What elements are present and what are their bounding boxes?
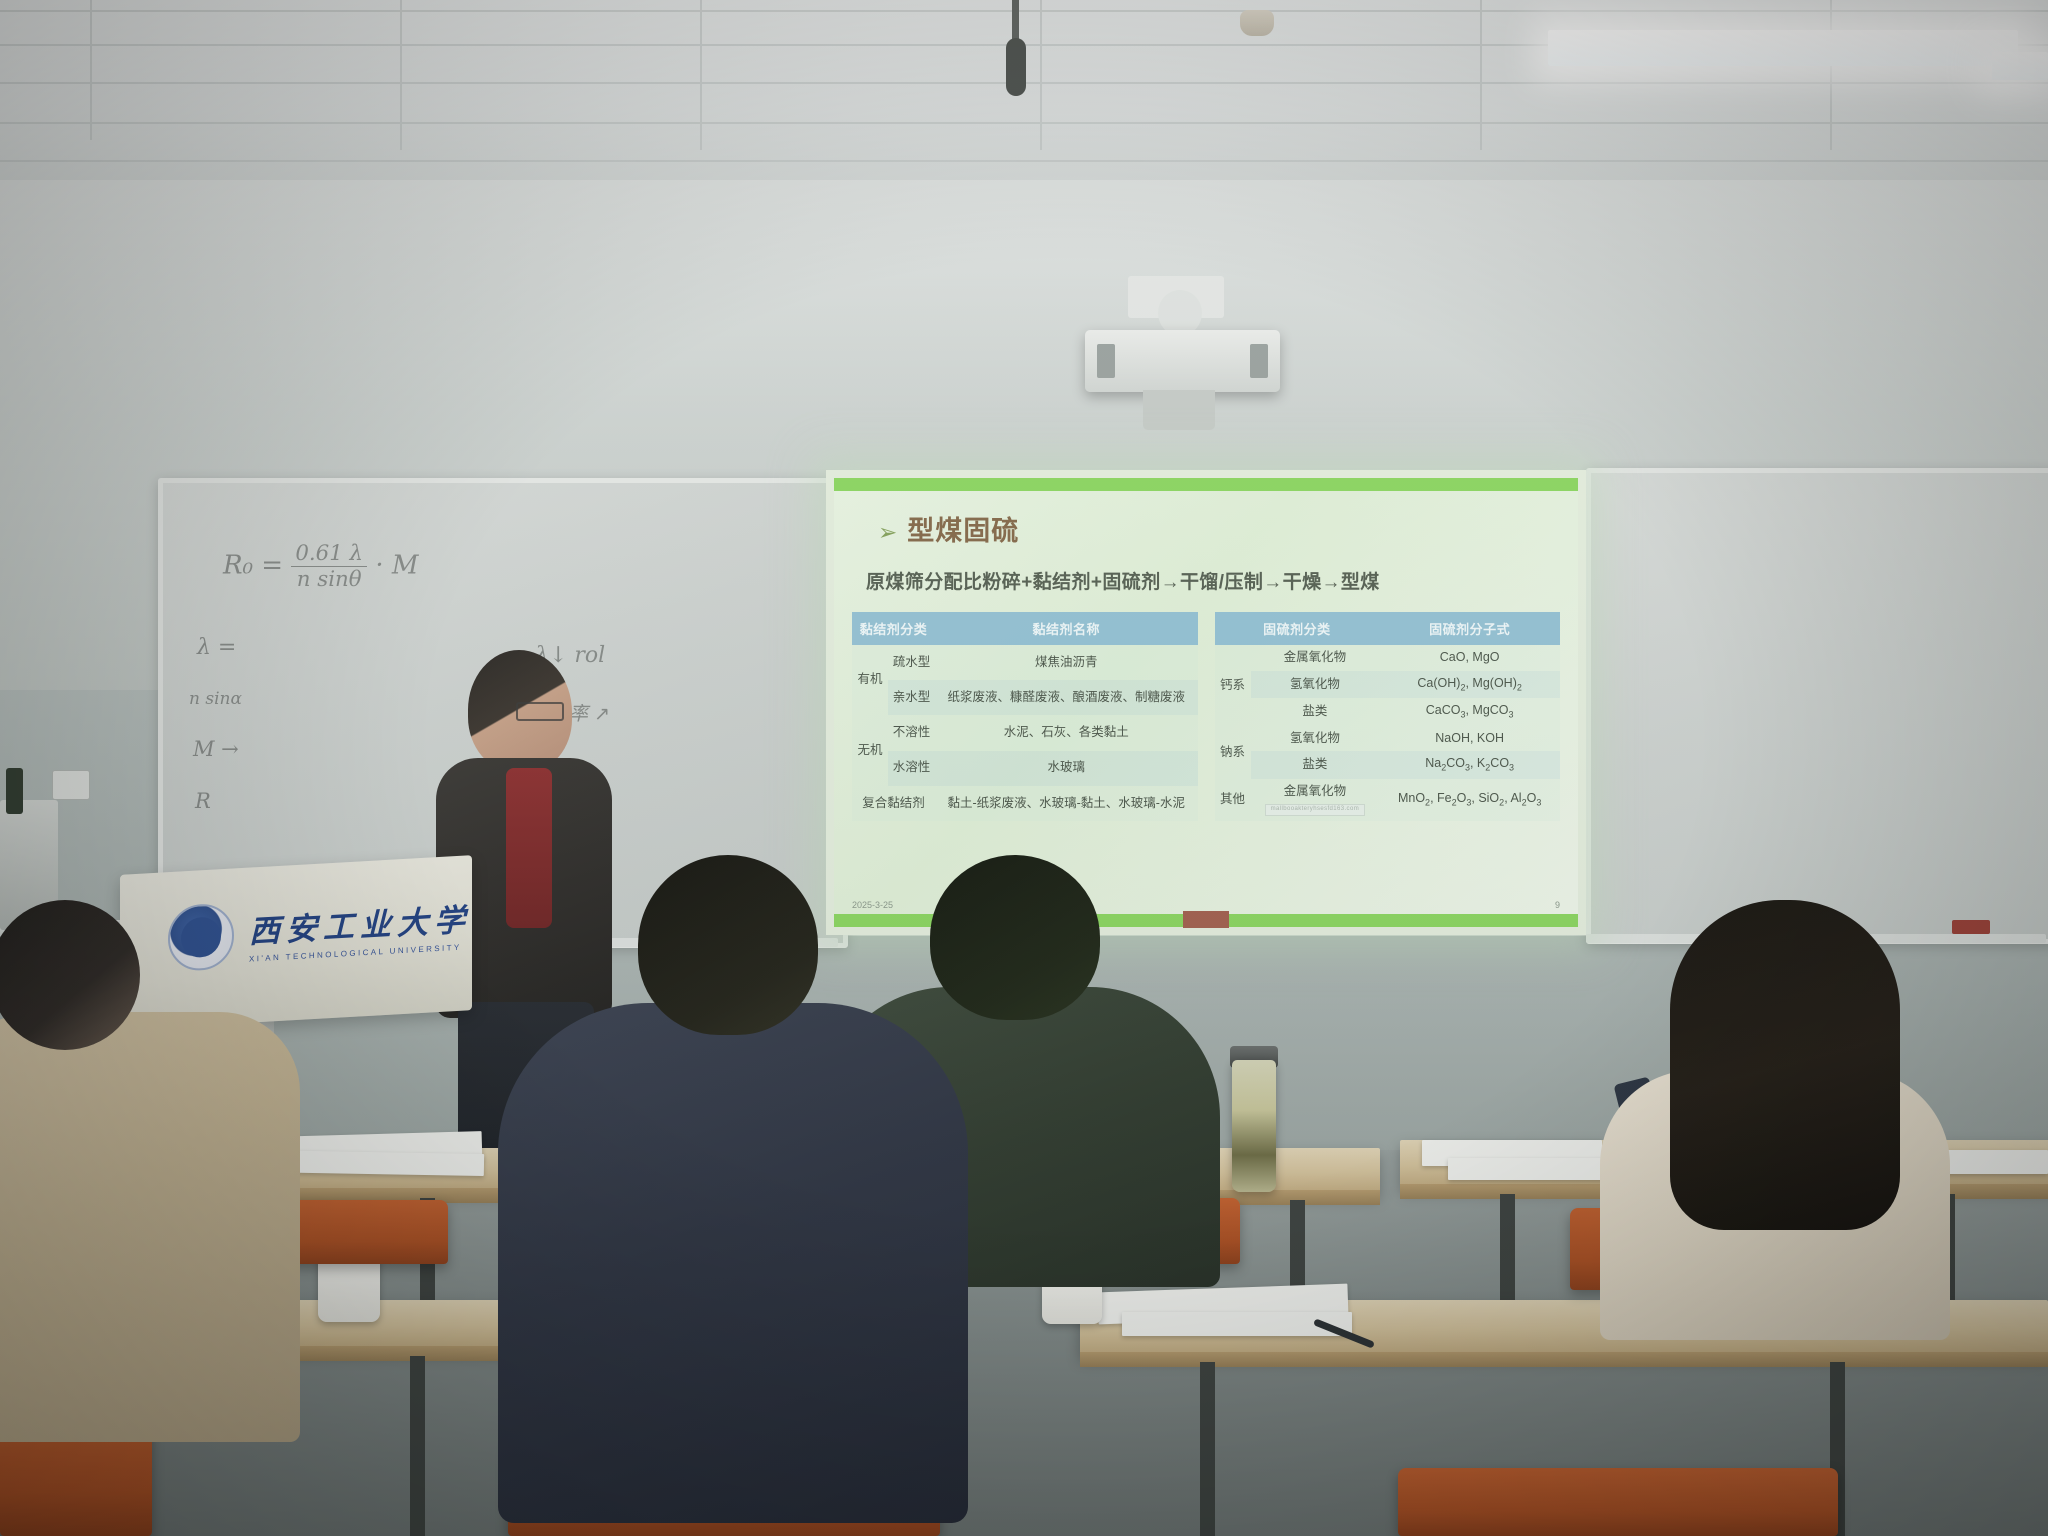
attendee-right xyxy=(1610,900,1950,1330)
wall-outlet xyxy=(52,770,90,800)
table-row: 有机 疏水型 煤焦油沥青 xyxy=(852,645,1198,680)
desulf-type: 盐类 xyxy=(1251,751,1380,779)
smoke-detector xyxy=(1240,10,1274,36)
attendee-center-navy xyxy=(498,855,968,1536)
desulf-type: 金属氧化物 mallbooakteryhsesfd163.com xyxy=(1251,779,1380,821)
binder-col-name: 黏结剂名称 xyxy=(935,612,1198,645)
attendee-left xyxy=(0,900,310,1536)
whiteboard-note-2: n sinα xyxy=(189,689,242,709)
attendee-left-coat xyxy=(0,1012,300,1442)
ceiling-light-far xyxy=(1992,52,2048,80)
desulf-type: 盐类 xyxy=(1251,698,1380,726)
desulf-formula: MnO2, Fe2O3, SiO2, Al2O3 xyxy=(1379,779,1560,821)
documents xyxy=(1448,1158,1614,1180)
table-row: 盐类 Na2CO3, K2CO3 xyxy=(1215,751,1561,779)
table-row: 其他 金属氧化物 mallbooakteryhsesfd163.com MnO2… xyxy=(1215,779,1561,821)
projector xyxy=(1085,330,1280,392)
desulf-formula: CaO, MgO xyxy=(1379,645,1560,671)
table-row: 钠系 氢氧化物 NaOH, KOH xyxy=(1215,726,1561,752)
ceiling-sensor-pod xyxy=(1006,38,1026,96)
whiteboard-right xyxy=(1586,468,2048,944)
slide-top-bar xyxy=(834,478,1578,491)
binder-type: 不溶性 xyxy=(888,715,935,750)
table-row: 盐类 CaCO3, MgCO3 xyxy=(1215,698,1561,726)
binder-table: 黏结剂分类 黏结剂名称 有机 疏水型 煤焦油沥青 亲水型 xyxy=(852,612,1198,821)
binder-name: 纸浆废液、糠醛废液、酿酒废液、制糖废液 xyxy=(935,680,1198,715)
table-row: 钙系 金属氧化物 CaO, MgO xyxy=(1215,645,1561,671)
ceiling-cable xyxy=(1012,0,1019,42)
desulf-formula: NaOH, KOH xyxy=(1379,726,1560,752)
whiteboard-marker-icon xyxy=(6,768,23,814)
binder-name: 黏土-纸浆废液、水玻璃-黏土、水玻璃-水泥 xyxy=(935,786,1198,821)
desulf-group-sodium: 钠系 xyxy=(1215,726,1251,779)
binder-type: 亲水型 xyxy=(888,680,935,715)
slide-title: ➢型煤固硫 xyxy=(878,509,1560,548)
desulf-col-class: 固硫剂分类 xyxy=(1215,612,1380,645)
binder-group-organic: 有机 xyxy=(852,645,888,715)
table-row: 氢氧化物 Ca(OH)2, Mg(OH)2 xyxy=(1215,671,1561,699)
slide-process-line: 原煤筛分配比粉碎+黏结剂+固硫剂→干馏/压制→干燥→型煤 xyxy=(866,567,1560,594)
tea-tumbler xyxy=(1232,1060,1276,1192)
desulf-type: 金属氧化物 xyxy=(1251,645,1380,671)
attendee-navy-jacket xyxy=(498,1003,968,1523)
binder-group-inorganic: 无机 xyxy=(852,715,888,785)
desulf-col-formula: 固硫剂分子式 xyxy=(1379,612,1560,645)
binder-col-class: 黏结剂分类 xyxy=(852,612,935,645)
desulf-formula: Ca(OH)2, Mg(OH)2 xyxy=(1379,671,1560,699)
whiteboard-note-1: λ = xyxy=(197,635,236,660)
slide-page-number: 9 xyxy=(1555,900,1560,910)
bullet-arrow-icon: ➢ xyxy=(878,519,898,545)
table-row: 水溶性 水玻璃 xyxy=(852,751,1198,786)
desulf-group-other: 其他 xyxy=(1215,779,1251,821)
desulf-formula: CaCO3, MgCO3 xyxy=(1379,698,1560,726)
glasses-icon xyxy=(516,702,564,721)
desulf-formula: Na2CO3, K2CO3 xyxy=(1379,751,1560,779)
attendee-navy-head xyxy=(638,855,818,1035)
whiteboard-formula: R₀ = 0.61 λ n sinθ · M xyxy=(223,541,419,592)
binder-name: 煤焦油沥青 xyxy=(935,645,1198,680)
red-marker-right-board xyxy=(1952,920,1990,934)
binder-name: 水泥、石灰、各类黏土 xyxy=(935,715,1198,750)
binder-type-composite: 复合黏结剂 xyxy=(852,786,935,821)
table-row: 亲水型 纸浆废液、糠醛废液、酿酒废液、制糖废液 xyxy=(852,680,1198,715)
ceiling-light-main xyxy=(1548,30,2018,66)
desulf-group-calcium: 钙系 xyxy=(1215,645,1251,726)
binder-type: 疏水型 xyxy=(888,645,935,680)
whiteboard-note-3: M → xyxy=(193,737,239,761)
desulf-type: 氢氧化物 xyxy=(1251,671,1380,699)
chair xyxy=(1398,1468,1838,1536)
table-row: 无机 不溶性 水泥、石灰、各类黏土 xyxy=(852,715,1198,750)
ceiling xyxy=(0,0,2048,200)
binder-name: 水玻璃 xyxy=(935,751,1198,786)
attendee-right-hair xyxy=(1670,900,1900,1230)
binder-type: 水溶性 xyxy=(888,751,935,786)
desulf-type: 氢氧化物 xyxy=(1251,726,1380,752)
table-row: 复合黏结剂 黏土-纸浆废液、水玻璃-黏土、水玻璃-水泥 xyxy=(852,786,1198,821)
projector-lens xyxy=(1143,390,1215,430)
desulfurizer-table: 固硫剂分类 固硫剂分子式 钙系 金属氧化物 CaO, MgO 氢氧化 xyxy=(1215,612,1561,821)
classroom-photo: R₀ = 0.61 λ n sinθ · M λ = n sinα M → R … xyxy=(0,0,2048,1536)
slide-watermark: mallbooakteryhsesfd163.com xyxy=(1265,804,1365,815)
whiteboard-note-4: R xyxy=(195,789,211,813)
slide-tables: 黏结剂分类 黏结剂名称 有机 疏水型 煤焦油沥青 亲水型 xyxy=(852,612,1560,821)
